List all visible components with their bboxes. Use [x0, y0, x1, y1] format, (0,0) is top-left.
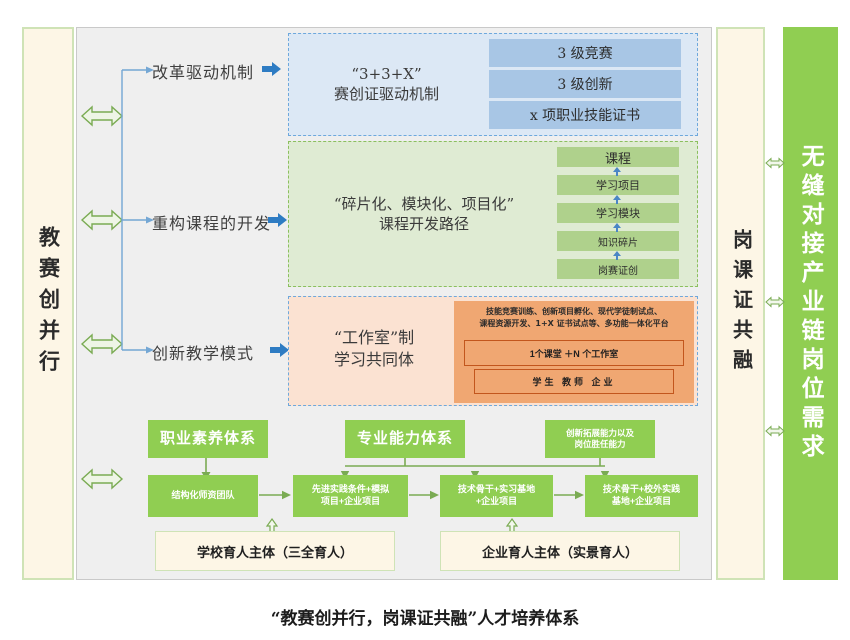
row-blue-title-line2: 赛创证驱动机制 [289, 84, 484, 104]
arrow-right-icon-1 [262, 61, 282, 77]
double-arrow-icon-r2 [765, 295, 785, 309]
workshop-description: 技能竞赛训练、创新项目孵化、现代学徒制试点、 课程资源开发、1+X 证书试点等、… [454, 306, 694, 330]
left-banner-label: 教赛创并行 [36, 226, 59, 381]
green-stack-item-2[interactable]: 学习模块 [557, 203, 679, 223]
flow-box-2[interactable]: 技术骨干+实习基地 +企业项目 [440, 475, 553, 517]
row-teaching-model: “工作室”制 学习共同体 技能竞赛训练、创新项目孵化、现代学徒制试点、 课程资源… [288, 296, 698, 406]
row-blue-title: “3+3+X” 赛创证驱动机制 [289, 64, 484, 105]
flow-box-1[interactable]: 先进实践条件+模拟 项目+企业项目 [293, 475, 408, 517]
workshop-desc-line1: 技能竞赛训练、创新项目孵化、现代学徒制试点、 [454, 306, 694, 318]
blue-item-1[interactable]: 3 级创新 [489, 70, 681, 98]
workshop-band-participants[interactable]: 学生 教师 企业 [474, 369, 674, 394]
green-stack-item-4[interactable]: 岗赛证创 [557, 259, 679, 279]
right-banner-label: 岗课证共融 [730, 229, 752, 379]
row-reform-mechanism: “3+3+X” 赛创证驱动机制 3 级竞赛 3 级创新 x 项职业技能证书 [288, 33, 698, 136]
diagram-canvas: 教赛创并行 改革驱动机制 [0, 0, 850, 640]
row-orange-title-line2: 学习共同体 [289, 349, 459, 371]
row-orange-title: “工作室”制 学习共同体 [289, 327, 459, 370]
subject-box-enterprise[interactable]: 企业育人主体（实景育人） [440, 531, 680, 571]
bottom-header-0[interactable]: 职业素养体系 [148, 420, 268, 458]
stage-label-1: 改革驱动机制 [152, 59, 254, 83]
left-banner-jiaosaichuang: 教赛创并行 [22, 27, 74, 580]
stage-label-3: 创新教学模式 [152, 340, 254, 364]
flow-box-3[interactable]: 技术骨干+校外实践 基地+企业项目 [585, 475, 698, 517]
green-stack-item-0[interactable]: 课程 [557, 147, 679, 167]
green-stack-item-1[interactable]: 学习项目 [557, 175, 679, 195]
right-banner-gangkezheng: 岗课证共融 [716, 27, 765, 580]
arrow-up-icon-4 [611, 251, 623, 260]
row-green-title-line2: 课程开发路径 [289, 214, 559, 234]
arrow-right-icon-flow-1 [259, 489, 292, 501]
bottom-header-1[interactable]: 专业能力体系 [345, 420, 465, 458]
double-arrow-icon-r3 [765, 424, 785, 438]
arrow-up-icon-3 [611, 223, 623, 232]
workshop-band-classroom[interactable]: 1个课堂 ＋N 个工作室 [464, 340, 684, 366]
subject-box-school[interactable]: 学校育人主体（三全育人） [155, 531, 395, 571]
arrow-right-icon-3 [270, 342, 290, 358]
double-arrow-icon-4 [80, 466, 124, 492]
arrow-right-icon-2 [268, 212, 288, 228]
workshop-desc-line2: 课程资源开发、1+X 证书试点等、多功能一体化平台 [454, 318, 694, 330]
row-course-development: “碎片化、模块化、项目化” 课程开发路径 课程 学习项目 学习模块 知识碎片 岗… [288, 141, 698, 287]
arrow-up-icon-1 [611, 167, 623, 176]
flow-box-0[interactable]: 结构化师资团队 [148, 475, 258, 517]
arrow-up-icon-2 [611, 195, 623, 204]
double-arrow-icon-r1 [765, 156, 785, 170]
stage-label-2: 重构课程的开发 [152, 210, 271, 234]
figure-caption: “教赛创并行，岗课证共融”人才培养体系 [0, 604, 850, 629]
green-stack-item-3[interactable]: 知识碎片 [557, 231, 679, 251]
row-green-title-line1: “碎片化、模块化、项目化” [289, 194, 559, 214]
arrow-right-icon-flow-2 [409, 489, 439, 501]
far-right-banner-label: 无缝对接产业链岗位需求 [798, 144, 823, 463]
row-orange-title-line1: “工作室”制 [289, 327, 459, 349]
row-blue-title-line1: “3+3+X” [289, 64, 484, 84]
blue-item-2[interactable]: x 项职业技能证书 [489, 101, 681, 129]
blue-item-0[interactable]: 3 级竞赛 [489, 39, 681, 67]
row-green-title: “碎片化、模块化、项目化” 课程开发路径 [289, 194, 559, 235]
bottom-header-2[interactable]: 创新拓展能力以及 岗位胜任能力 [545, 420, 655, 458]
far-right-banner-industry: 无缝对接产业链岗位需求 [783, 27, 838, 580]
arrow-right-icon-flow-3 [554, 489, 584, 501]
